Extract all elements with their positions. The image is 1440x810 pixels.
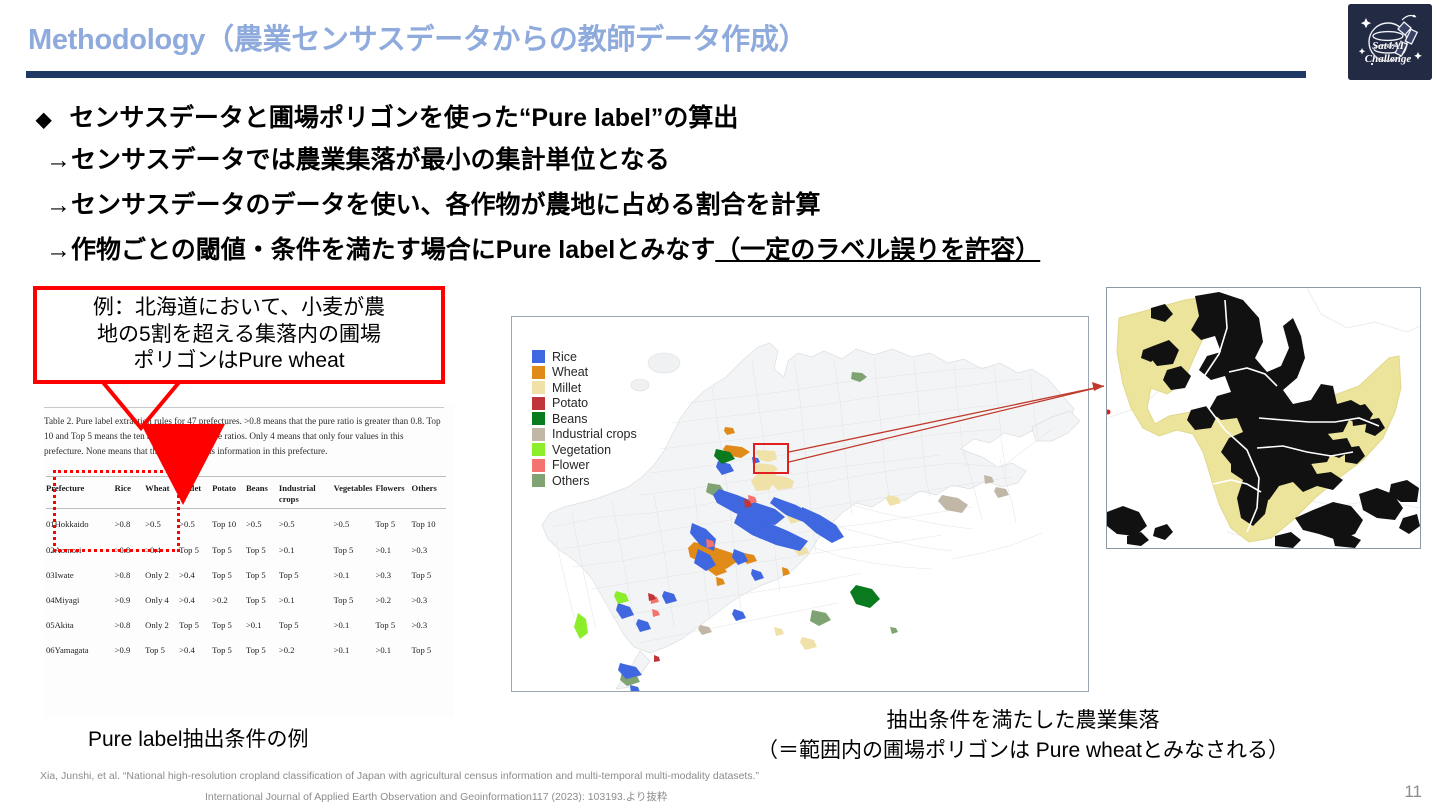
- table-row: 04Miyagi >0.9 Only 4 >0.4 >0.2 Top 5 >0.…: [46, 588, 446, 613]
- cell-millet: >0.4: [179, 563, 212, 588]
- cell-millet: >0.4: [179, 588, 212, 613]
- legend-item-vegetation: Vegetation: [532, 442, 637, 458]
- cell-millet: Top 5: [179, 538, 212, 563]
- caption-right: 抽出条件を満たした農業集落 （＝範囲内の圃場ポリゴンは Pure wheatとみ…: [618, 706, 1428, 767]
- legend-item-wheat: Wheat: [532, 365, 637, 381]
- legend-swatch-millet: [532, 381, 545, 394]
- citation-line-2: International Journal of Applied Earth O…: [205, 789, 667, 804]
- callout-line-3: ポリゴンはPure wheat: [133, 348, 344, 375]
- caption-right-line-2: （＝範囲内の圃場ポリゴンは Pure wheatとみなされる）: [618, 736, 1428, 766]
- cell-rice: >0.9: [115, 638, 146, 663]
- logo-artwork: Sat4AI Challenge: [1348, 4, 1432, 80]
- cell-others: >0.3: [412, 588, 446, 613]
- citation-line-1: Xia, Junshi, et al. “National high-resol…: [40, 770, 759, 782]
- hokkaido-map-panel: Rice Wheat Millet Potato Beans Industria…: [511, 316, 1089, 692]
- legend-swatch-potato: [532, 397, 545, 410]
- cell-vegetables: >0.1: [334, 563, 376, 588]
- cell-others: Top 5: [412, 563, 446, 588]
- legend-item-rice: Rice: [532, 349, 637, 365]
- table-row: 05Akita >0.8 Only 2 Top 5 Top 5 >0.1 Top…: [46, 613, 446, 638]
- cell-wheat: Only 4: [145, 588, 179, 613]
- callout-pointer-icon: [33, 380, 445, 520]
- slide-root: Methodology（農業センサスデータからの教師データ作成）: [0, 0, 1440, 810]
- agricultural-settlement-inset: [1106, 287, 1421, 549]
- cell-flowers: >0.1: [375, 538, 411, 563]
- legend-swatch-wheat: [532, 366, 545, 379]
- title-divider: [26, 71, 1306, 78]
- cell-flowers: >0.3: [375, 563, 411, 588]
- cell-vegetables: >0.1: [334, 613, 376, 638]
- legend-label-wheat: Wheat: [552, 365, 588, 379]
- callout-line-2: 地の5割を超える集落内の圃場: [97, 322, 381, 349]
- cell-others: >0.3: [412, 613, 446, 638]
- cell-prefecture: 06Yamagata: [46, 638, 115, 663]
- legend-label-beans: Beans: [552, 412, 587, 426]
- bullet-heading-text: センサスデータと圃場ポリゴンを使った“Pure label”の算出: [69, 98, 738, 134]
- zoom-selection-box: [753, 443, 789, 474]
- cell-others: >0.3: [412, 538, 446, 563]
- legend-swatch-vegetation: [532, 443, 545, 456]
- legend-label-others: Others: [552, 474, 590, 488]
- cell-potato: Top 5: [212, 638, 246, 663]
- legend-label-rice: Rice: [552, 350, 577, 364]
- cell-rice: >0.8: [115, 613, 146, 638]
- legend-label-vegetation: Vegetation: [552, 443, 611, 457]
- cell-flowers: >0.2: [375, 588, 411, 613]
- cell-vegetables: >0.1: [334, 638, 376, 663]
- legend-swatch-flower: [532, 459, 545, 472]
- cell-rice: >0.9: [115, 588, 146, 613]
- caption-left: Pure label抽出条件の例: [88, 723, 309, 753]
- cell-industrial: >0.1: [279, 538, 334, 563]
- legend-label-potato: Potato: [552, 396, 588, 410]
- page-number: 11: [1404, 782, 1422, 802]
- body-line-2: →センサスデータのデータを使い、各作物が農地に占める割合を計算: [46, 185, 821, 221]
- cell-industrial: >0.2: [279, 638, 334, 663]
- bullet-heading-row: ◆ センサスデータと圃場ポリゴンを使った“Pure label”の算出: [36, 98, 738, 134]
- table-row: 03Iwate >0.8 Only 2 >0.4 Top 5 Top 5 Top…: [46, 563, 446, 588]
- cell-millet: Top 5: [179, 613, 212, 638]
- diamond-bullet-icon: ◆: [36, 110, 51, 130]
- body-line-1: →センサスデータでは農業集落が最小の集計単位となる: [46, 140, 670, 176]
- cell-industrial: Top 5: [279, 563, 334, 588]
- table-row: 06Yamagata >0.9 Top 5 >0.4 Top 5 Top 5 >…: [46, 638, 446, 663]
- caption-right-line-1: 抽出条件を満たした農業集落: [618, 706, 1428, 736]
- zoom-connector-lines: [786, 380, 1116, 476]
- cell-wheat: Only 2: [145, 563, 179, 588]
- legend-swatch-beans: [532, 412, 545, 425]
- cell-flowers: Top 5: [375, 613, 411, 638]
- legend-item-potato: Potato: [532, 396, 637, 412]
- cell-beans: Top 5: [246, 638, 279, 663]
- cell-vegetables: Top 5: [334, 588, 376, 613]
- cell-beans: Top 5: [246, 538, 279, 563]
- example-callout: 例：北海道において、小麦が農 地の5割を超える集落内の圃場 ポリゴンはPure …: [33, 286, 445, 384]
- cell-millet: >0.4: [179, 638, 212, 663]
- legend-swatch-rice: [532, 350, 545, 363]
- cell-flowers: >0.1: [375, 638, 411, 663]
- cell-industrial: Top 5: [279, 613, 334, 638]
- cell-beans: >0.1: [246, 613, 279, 638]
- legend-item-flower: Flower: [532, 458, 637, 474]
- logo-text-line1: Sat4AI: [1372, 40, 1405, 52]
- legend-item-others: Others: [532, 473, 637, 489]
- legend-label-industrial-crops: Industrial crops: [552, 427, 637, 441]
- cell-wheat: Top 5: [145, 638, 179, 663]
- inset-graphic: [1107, 288, 1420, 548]
- cell-beans: Top 5: [246, 563, 279, 588]
- cell-potato: Top 5: [212, 563, 246, 588]
- cell-beans: Top 5: [246, 588, 279, 613]
- cell-prefecture: 04Miyagi: [46, 588, 115, 613]
- cell-potato: Top 5: [212, 613, 246, 638]
- body-line-3-prefix: →作物ごとの閾値・条件を満たす場合にPure labelとみなす: [46, 236, 715, 264]
- body-line-3-underlined: （一定のラベル誤りを許容）: [715, 236, 1040, 264]
- legend-label-flower: Flower: [552, 458, 590, 472]
- page-title: Methodology（農業センサスデータからの教師データ作成）: [28, 16, 807, 58]
- legend-item-millet: Millet: [532, 380, 637, 396]
- cell-potato: >0.2: [212, 588, 246, 613]
- cell-potato: Top 5: [212, 538, 246, 563]
- cell-prefecture: 05Akita: [46, 613, 115, 638]
- legend-item-beans: Beans: [532, 411, 637, 427]
- cell-vegetables: Top 5: [334, 538, 376, 563]
- logo-text-line2: Challenge: [1365, 53, 1412, 65]
- map-legend: Rice Wheat Millet Potato Beans Industria…: [532, 349, 637, 489]
- body-line-3: →作物ごとの閾値・条件を満たす場合にPure labelとみなす（一定のラベル誤…: [46, 230, 1040, 266]
- cell-industrial: >0.1: [279, 588, 334, 613]
- cell-rice: >0.8: [115, 563, 146, 588]
- cell-prefecture: 03Iwate: [46, 563, 115, 588]
- sat4ai-challenge-logo: Sat4AI Challenge: [1348, 4, 1432, 80]
- legend-swatch-industrial-crops: [532, 428, 545, 441]
- cell-wheat: Only 2: [145, 613, 179, 638]
- legend-item-industrial-crops: Industrial crops: [532, 427, 637, 443]
- cell-others: Top 5: [412, 638, 446, 663]
- legend-swatch-others: [532, 474, 545, 487]
- callout-line-1: 例：北海道において、小麦が農: [93, 295, 385, 322]
- legend-label-millet: Millet: [552, 381, 581, 395]
